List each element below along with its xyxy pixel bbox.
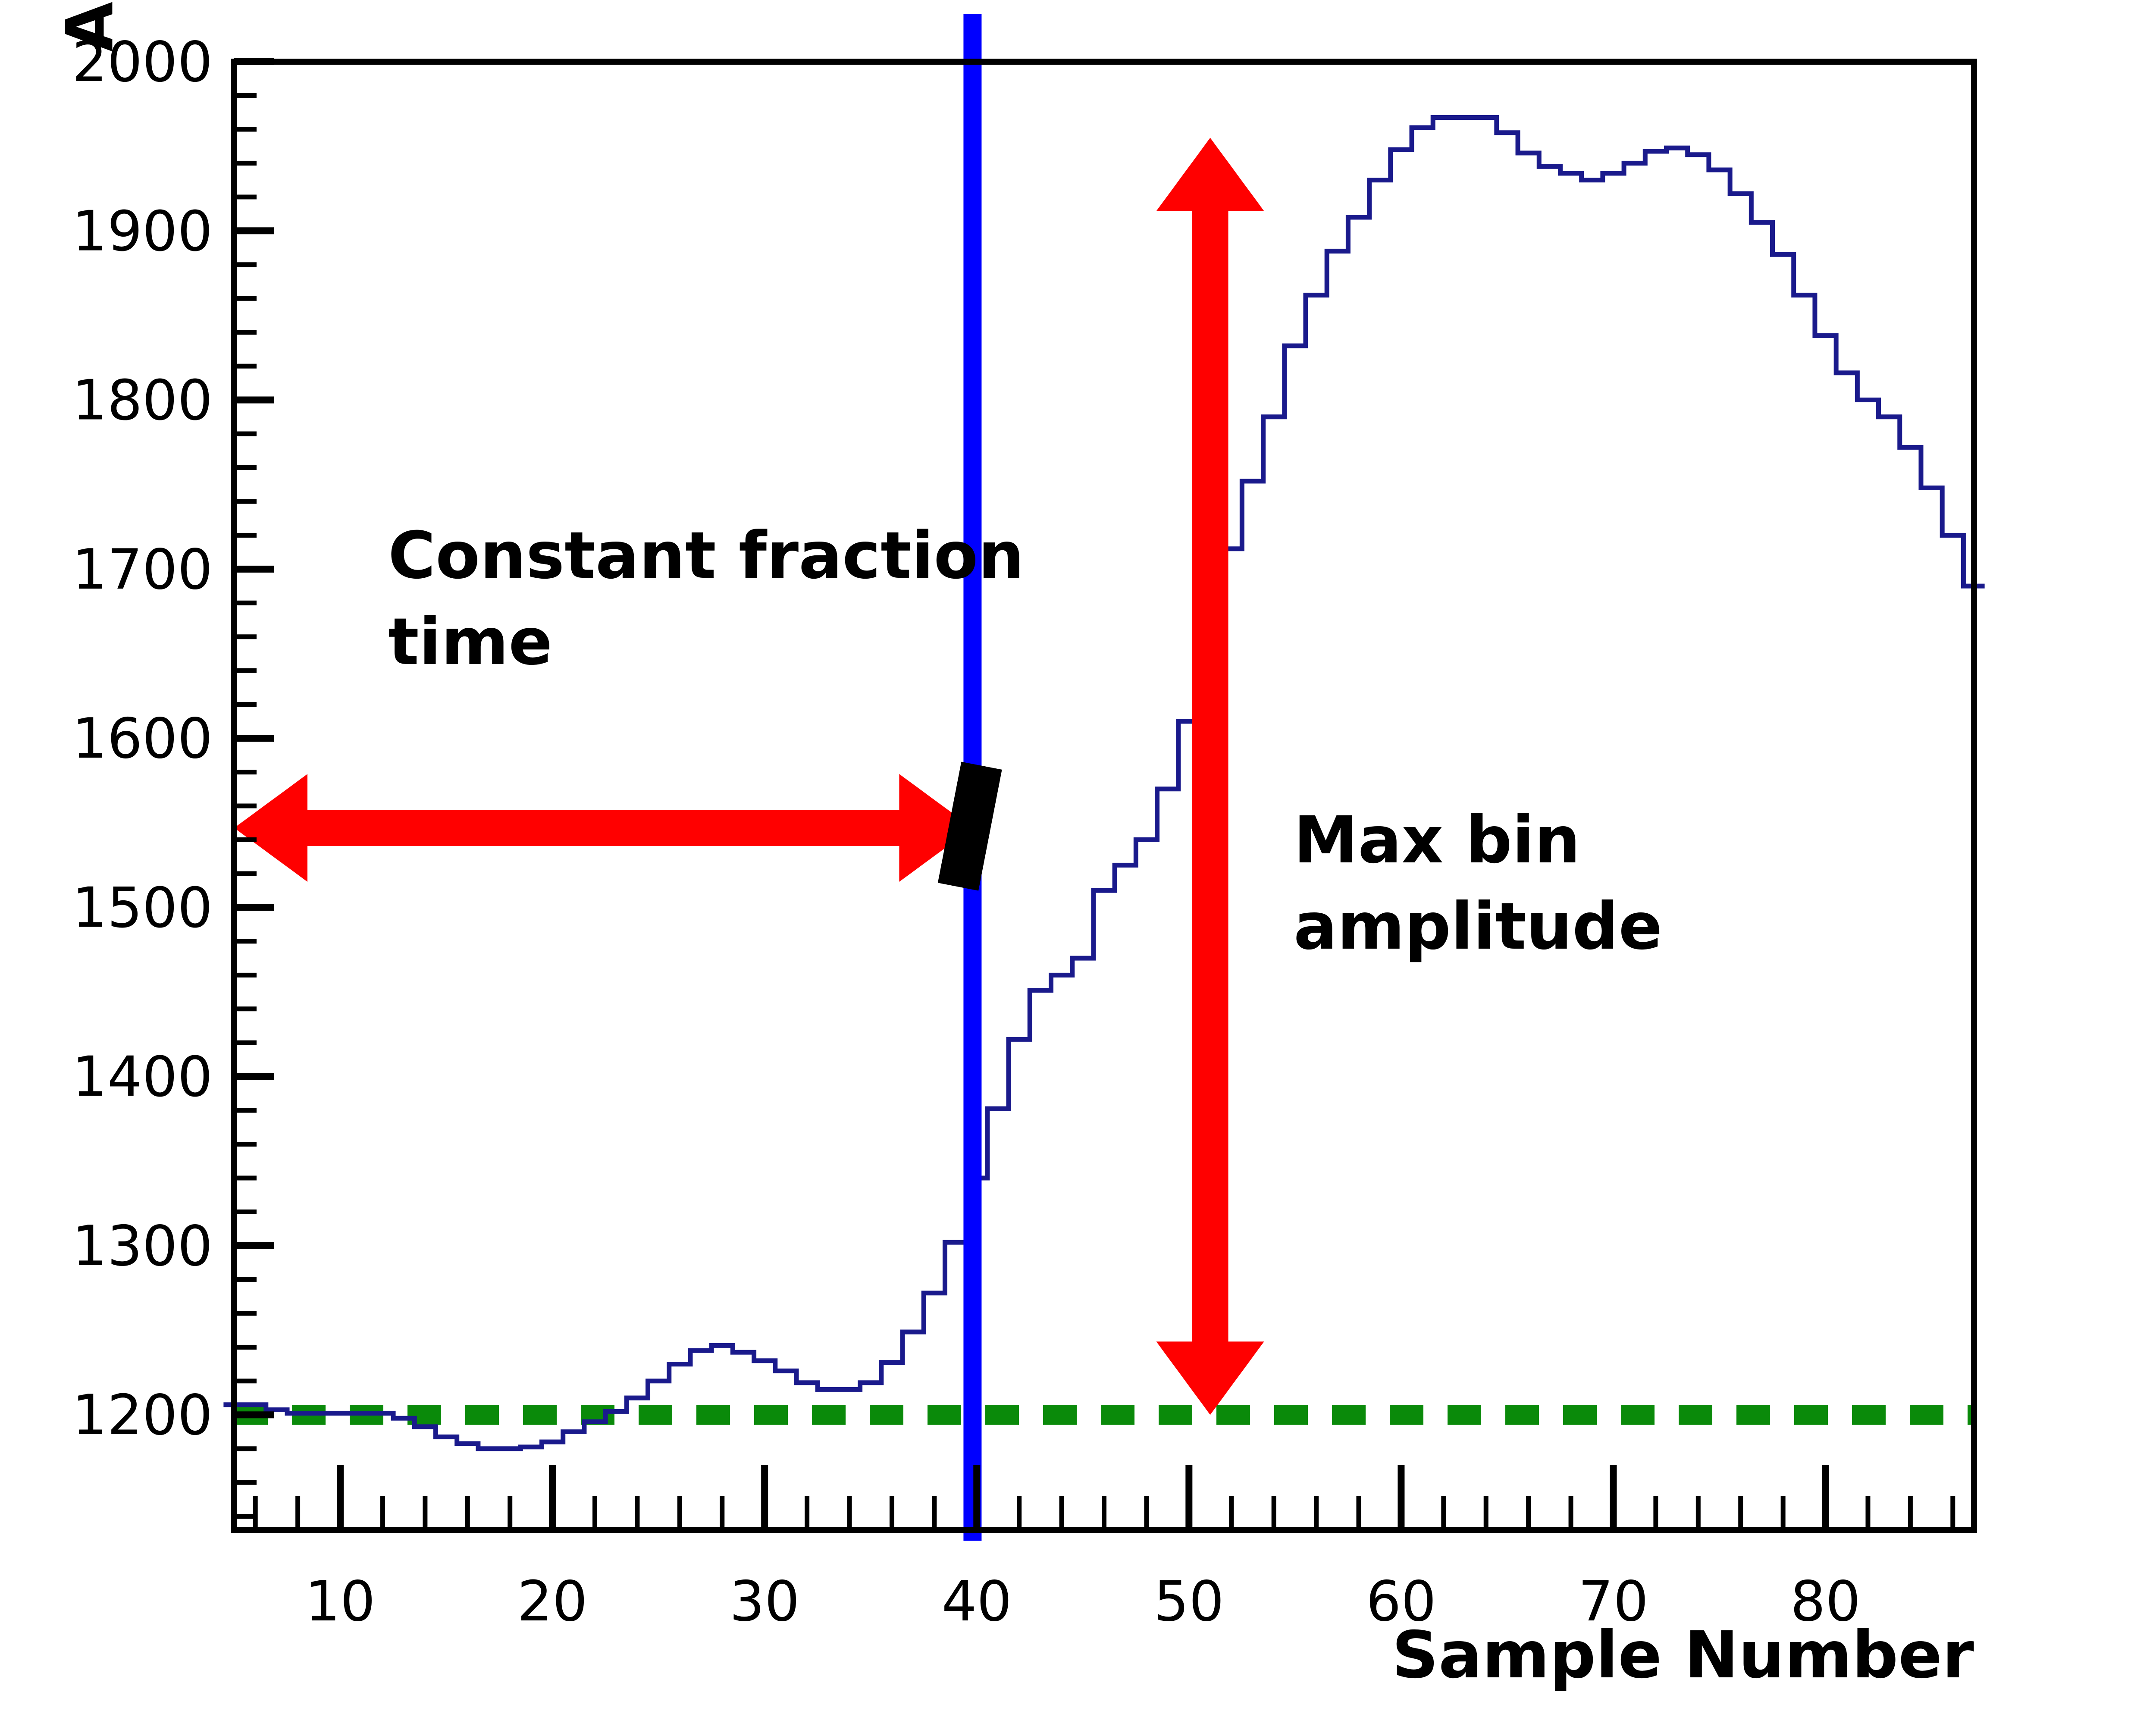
- constant-fraction-label-line1: Constant fraction: [388, 518, 1024, 593]
- x-tick-label: 40: [942, 1570, 1012, 1634]
- x-tick-label: 50: [1154, 1570, 1224, 1634]
- constant-fraction-label-line2: time: [388, 605, 552, 680]
- y-tick-label: 1800: [72, 369, 213, 433]
- x-tick-label: 20: [517, 1570, 588, 1634]
- max-bin-label-line1: Max bin: [1294, 803, 1580, 878]
- y-tick-label: 1400: [72, 1045, 213, 1109]
- y-tick-label: 1200: [72, 1383, 213, 1448]
- max-bin-label-line2: amplitude: [1294, 889, 1662, 964]
- y-tick-label: 1900: [72, 199, 213, 263]
- y-tick-label: 1500: [72, 876, 213, 940]
- waveform-plot: 1200130014001500160017001800190020001020…: [0, 0, 2156, 1714]
- x-tick-label: 30: [730, 1570, 800, 1634]
- y-axis-title: ADC units: [53, 0, 128, 52]
- plot-background: [0, 0, 2156, 1714]
- y-tick-label: 1600: [72, 707, 213, 771]
- y-tick-label: 1300: [72, 1214, 213, 1278]
- chart-root: 1200130014001500160017001800190020001020…: [0, 0, 2156, 1714]
- y-tick-label: 1700: [72, 538, 213, 602]
- x-axis-title: Sample Number: [1392, 1618, 1974, 1693]
- x-tick-label: 10: [305, 1570, 376, 1634]
